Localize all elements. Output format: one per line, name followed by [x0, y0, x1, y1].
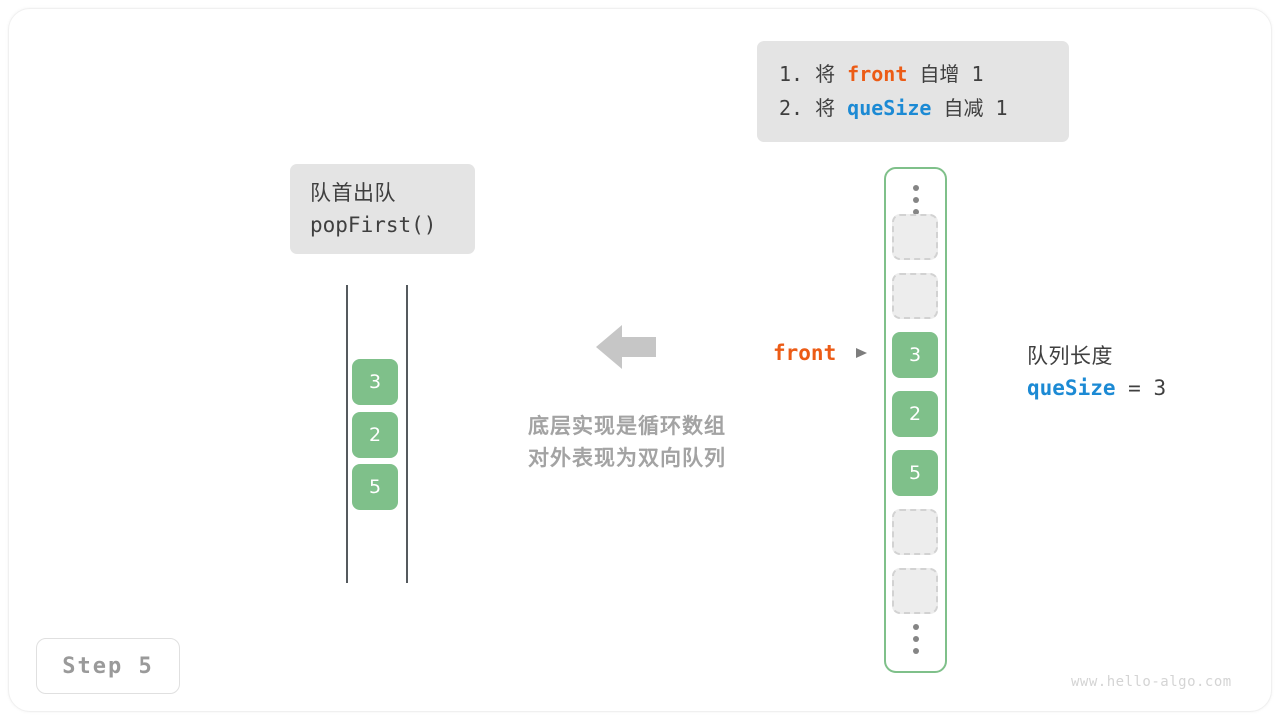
deque-cell: 2 — [352, 412, 398, 458]
deque-rail-right — [406, 285, 408, 583]
queue-length-expression: queSize = 3 — [1027, 372, 1166, 405]
operation-method: popFirst() — [310, 209, 455, 241]
array-slot: 2 — [892, 391, 938, 437]
front-pointer-label: front — [773, 341, 836, 365]
operation-callout: 队首出队 popFirst() — [290, 164, 475, 254]
vertical-ellipsis-icon — [913, 185, 919, 215]
deque-cell: 5 — [352, 464, 398, 510]
queue-length-label: 队列长度 — [1027, 341, 1166, 372]
diagram-canvas: 1. 将 front 自增 1 2. 将 queSize 自减 1 队首出队 p… — [0, 0, 1280, 720]
center-note: 底层实现是循环数组 对外表现为双向队列 — [494, 410, 760, 474]
steps-callout: 1. 将 front 自增 1 2. 将 queSize 自减 1 — [757, 41, 1069, 142]
array-slot-value: 3 — [909, 344, 921, 366]
step-2-keyword: queSize — [847, 96, 931, 120]
step-1-suffix: 自增 1 — [919, 62, 983, 86]
deque-rail-left — [346, 285, 348, 583]
queue-length-value: 3 — [1153, 376, 1166, 400]
queue-length-equals: = — [1128, 376, 1141, 400]
array-slot-value: 2 — [909, 403, 921, 425]
step-1-prefix: 1. 将 — [779, 62, 835, 86]
queue-length-note: 队列长度 queSize = 3 — [1027, 341, 1166, 405]
array-slot — [892, 214, 938, 260]
watermark: www.hello-algo.com — [1071, 674, 1232, 690]
front-arrow-icon — [855, 345, 871, 361]
array-slot: 3 — [892, 332, 938, 378]
array-slot — [892, 568, 938, 614]
step-line-2: 2. 将 queSize 自减 1 — [779, 91, 1047, 125]
center-note-line-1: 底层实现是循环数组 — [494, 410, 760, 442]
left-arrow-icon — [596, 323, 656, 371]
deque-cell: 3 — [352, 359, 398, 405]
step-2-suffix: 自减 1 — [944, 96, 1008, 120]
step-2-prefix: 2. 将 — [779, 96, 835, 120]
deque-cell-value: 5 — [369, 476, 381, 498]
array-slot — [892, 273, 938, 319]
operation-title: 队首出队 — [310, 178, 455, 209]
array-slot-value: 5 — [909, 462, 921, 484]
step-badge: Step 5 — [36, 638, 180, 694]
step-1-keyword: front — [847, 62, 907, 86]
deque-cell-value: 3 — [369, 371, 381, 393]
queue-length-variable: queSize — [1027, 376, 1116, 400]
array-slot: 5 — [892, 450, 938, 496]
array-slot — [892, 509, 938, 555]
vertical-ellipsis-icon — [913, 624, 919, 654]
center-note-line-2: 对外表现为双向队列 — [494, 442, 760, 474]
deque-cell-value: 2 — [369, 424, 381, 446]
circular-array-container: 3 2 5 — [884, 167, 947, 673]
step-line-1: 1. 将 front 自增 1 — [779, 57, 1047, 91]
